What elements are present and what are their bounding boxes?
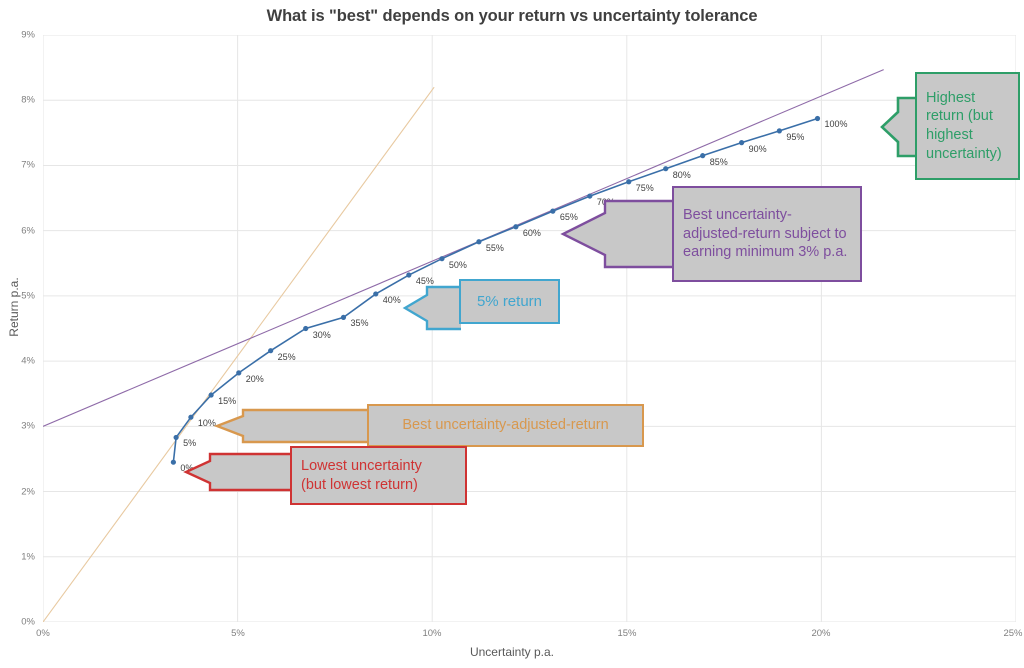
arrow-best-uar — [215, 408, 371, 444]
callout-highest-return-text: Highest return (but highest uncertainty) — [926, 89, 1009, 163]
arrow-five-percent-return — [403, 285, 463, 331]
arrow-lowest-uncertainty — [184, 452, 294, 492]
data-point — [513, 224, 518, 229]
y-tick-label: 6% — [0, 226, 35, 237]
y-tick-label: 2% — [0, 487, 35, 498]
data-point — [439, 256, 444, 261]
y-tick-label: 5% — [0, 291, 35, 302]
data-point — [406, 272, 411, 277]
x-tick-label: 15% — [597, 628, 657, 639]
data-point-label: 95% — [786, 132, 804, 142]
callout-highest-return: Highest return (but highest uncertainty) — [915, 72, 1020, 180]
data-point-label: 60% — [523, 228, 541, 238]
x-tick-label: 25% — [983, 628, 1024, 639]
y-tick-label: 4% — [0, 356, 35, 367]
data-point-label: 55% — [486, 243, 504, 253]
data-point-label: 30% — [313, 330, 331, 340]
callout-lowest-uncertainty: Lowest uncertainty (but lowest return) — [290, 446, 467, 505]
callout-best-uar-min3-text: Best uncertainty-adjusted-return subject… — [683, 206, 851, 262]
y-tick-label: 3% — [0, 421, 35, 432]
y-tick-label: 0% — [0, 617, 35, 628]
data-point-label: 100% — [825, 119, 848, 129]
data-point — [341, 315, 346, 320]
data-point-label: 85% — [710, 157, 728, 167]
data-point — [550, 209, 555, 214]
callout-best-uar-text: Best uncertainty-adjusted-return — [402, 416, 608, 435]
x-axis-title: Uncertainty p.a. — [0, 645, 1024, 659]
x-tick-label: 5% — [208, 628, 268, 639]
data-point-label: 50% — [449, 260, 467, 270]
x-tick-label: 0% — [13, 628, 73, 639]
data-point — [209, 392, 214, 397]
callout-lowest-uncertainty-line1: Lowest uncertainty — [301, 457, 422, 476]
data-point — [171, 460, 176, 465]
y-tick-label: 7% — [0, 160, 35, 171]
chart-title: What is "best" depends on your return vs… — [0, 7, 1024, 26]
y-tick-label: 1% — [0, 552, 35, 563]
data-point-label: 10% — [198, 418, 216, 428]
callout-five-percent-return-text: 5% return — [477, 292, 542, 311]
data-point-label: 25% — [278, 352, 296, 362]
data-point — [188, 415, 193, 420]
x-tick-label: 20% — [791, 628, 851, 639]
data-point — [303, 326, 308, 331]
data-point-label: 15% — [218, 396, 236, 406]
data-point — [476, 239, 481, 244]
data-point-label: 35% — [350, 318, 368, 328]
y-tick-label: 9% — [0, 30, 35, 41]
callout-lowest-uncertainty-line2: (but lowest return) — [301, 476, 422, 495]
y-axis-title: Return p.a. — [7, 267, 21, 347]
data-point — [777, 128, 782, 133]
arrow-best-uar-min3 — [561, 199, 675, 269]
data-point-label: 80% — [673, 170, 691, 180]
data-point — [373, 291, 378, 296]
chart-page: What is "best" depends on your return vs… — [0, 0, 1024, 668]
x-tick-label: 10% — [402, 628, 462, 639]
callout-five-percent-return: 5% return — [459, 279, 560, 324]
data-point — [626, 179, 631, 184]
data-point — [236, 370, 241, 375]
series-layer — [43, 35, 1016, 622]
data-point-label: 75% — [636, 183, 654, 193]
callout-best-uar: Best uncertainty-adjusted-return — [367, 404, 644, 447]
series-line — [43, 87, 434, 622]
callout-lowest-uncertainty-text: Lowest uncertainty (but lowest return) — [301, 457, 422, 494]
data-point — [700, 153, 705, 158]
data-point — [815, 116, 820, 121]
data-point-label: 5% — [183, 438, 196, 448]
data-point — [587, 193, 592, 198]
data-point — [739, 140, 744, 145]
data-point — [268, 348, 273, 353]
plot-area: 0%5%10%15%20%25%30%35%40%45%50%55%60%65%… — [43, 35, 1016, 622]
data-point — [174, 435, 179, 440]
callout-best-uar-min3: Best uncertainty-adjusted-return subject… — [672, 186, 862, 282]
data-point — [663, 166, 668, 171]
data-point-label: 90% — [749, 144, 767, 154]
data-point-label: 40% — [383, 295, 401, 305]
data-point-label: 20% — [246, 374, 264, 384]
y-tick-label: 8% — [0, 95, 35, 106]
